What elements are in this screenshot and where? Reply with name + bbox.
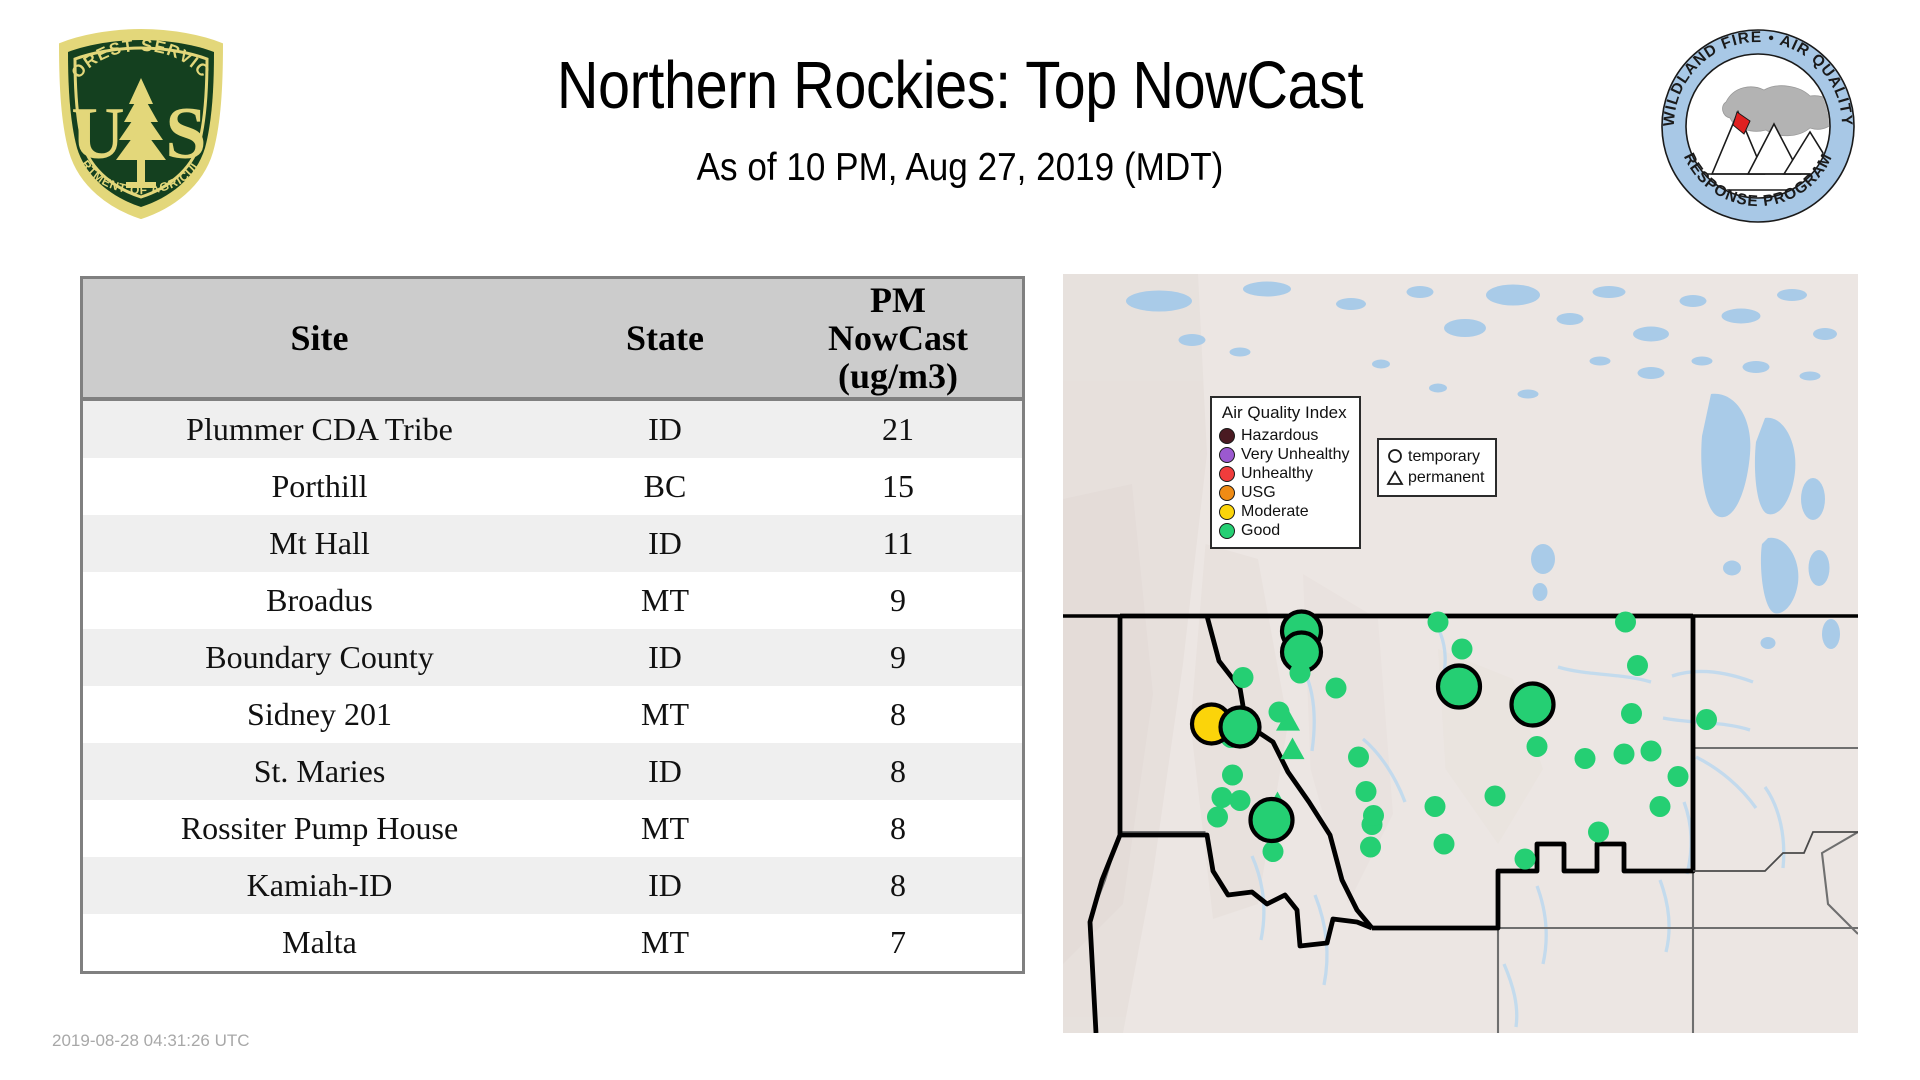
table-row: MaltaMT7 [82,914,1024,973]
state-cell: MT [556,914,774,973]
pm-nowcast-cell: 11 [774,515,1024,572]
pm-nowcast-cell: 9 [774,572,1024,629]
aqi-legend-label: Unhealthy [1241,466,1313,482]
aqi-legend-label: Very Unhealthy [1241,447,1350,463]
state-cell: ID [556,857,774,914]
table-row: Boundary CountyID9 [82,629,1024,686]
pm-nowcast-cell: 7 [774,914,1024,973]
legend-permanent-label: permanent [1408,470,1485,486]
monitor-marker-temporary[interactable] [1428,612,1449,633]
monitor-marker-temporary[interactable] [1263,841,1284,862]
table-row: Mt HallID11 [82,515,1024,572]
monitor-marker-temporary[interactable] [1363,805,1384,826]
aqi-legend-label: Moderate [1241,504,1309,520]
footer-timestamp: 2019-08-28 04:31:26 UTC [52,1031,250,1051]
monitor-marker-temporary[interactable] [1230,790,1251,811]
monitor-marker-temporary[interactable] [1212,787,1233,808]
column-header-state: State [556,278,774,400]
pm-header-line-3: (ug/m3) [838,356,958,396]
aqi-legend-label: Good [1241,523,1280,539]
monitor-marker-temporary[interactable] [1696,709,1717,730]
pm-nowcast-cell: 8 [774,686,1024,743]
pm-nowcast-cell: 8 [774,743,1024,800]
site-cell: Rossiter Pump House [82,800,557,857]
site-cell: Sidney 201 [82,686,557,743]
usfs-shield-logo: U S FOREST SERVICE DEPARTMENT OF AGRICUL… [46,26,236,222]
monitor-marker-temporary[interactable] [1650,796,1671,817]
aqi-legend-item: Moderate [1219,502,1350,521]
triangle-outline-icon [1386,469,1404,487]
site-cell: Kamiah-ID [82,857,557,914]
monitor-marker-temporary[interactable] [1615,612,1636,633]
table-row: Plummer CDA TribeID21 [82,399,1024,458]
table-header: Site State PM NowCast (ug/m3) [82,278,1024,400]
monitor-marker-temporary[interactable] [1588,822,1609,843]
pm-nowcast-cell: 9 [774,629,1024,686]
monitor-marker-temporary[interactable] [1515,849,1536,870]
top-nowcast-table-container: Site State PM NowCast (ug/m3) Plummer CD… [80,276,995,974]
air-quality-map[interactable]: Air Quality Index HazardousVery Unhealth… [1063,274,1858,1033]
aqi-legend-item: Hazardous [1219,426,1350,445]
monitor-marker-temporary[interactable] [1668,766,1689,787]
monitor-marker-temporary[interactable] [1527,736,1548,757]
table-row: Sidney 201MT8 [82,686,1024,743]
state-cell: MT [556,686,774,743]
pm-header-line-1: PM [870,280,926,320]
monitor-marker-temporary[interactable] [1356,781,1377,802]
state-cell: ID [556,743,774,800]
state-cell: ID [556,399,774,458]
top-nowcast-table: Site State PM NowCast (ug/m3) Plummer CD… [80,276,1025,974]
pm-header-line-2: NowCast [828,318,968,358]
table-row: BroadusMT9 [82,572,1024,629]
pm-nowcast-cell: 8 [774,800,1024,857]
monitor-marker-temporary[interactable] [1348,747,1369,768]
legend-temporary-label: temporary [1408,449,1480,465]
table-body: Plummer CDA TribeID21PorthillBC15Mt Hall… [82,399,1024,973]
monitor-marker-temporary[interactable] [1251,799,1293,841]
circle-outline-icon [1386,448,1404,466]
aqi-color-swatch-icon [1219,504,1235,520]
page-header: U S FOREST SERVICE DEPARTMENT OF AGRICUL… [0,0,1920,228]
legend-temporary-row: temporary [1386,446,1485,467]
monitor-marker-temporary[interactable] [1627,655,1648,676]
site-cell: St. Maries [82,743,557,800]
monitor-marker-temporary[interactable] [1485,786,1506,807]
table-row: St. MariesID8 [82,743,1024,800]
monitor-marker-temporary[interactable] [1269,702,1290,723]
site-cell: Mt Hall [82,515,557,572]
monitor-marker-temporary[interactable] [1621,703,1642,724]
site-cell: Malta [82,914,557,973]
aqi-legend-item: Very Unhealthy [1219,445,1350,464]
state-cell: MT [556,572,774,629]
site-type-legend: temporary permanent [1377,438,1497,497]
aqi-color-swatch-icon [1219,447,1235,463]
monitor-marker-temporary[interactable] [1425,796,1446,817]
table-header-row: Site State PM NowCast (ug/m3) [82,278,1024,400]
monitor-marker-temporary[interactable] [1512,684,1554,726]
svg-text:U: U [71,93,124,175]
monitor-marker-temporary[interactable] [1575,748,1596,769]
aqi-color-swatch-icon [1219,485,1235,501]
table-row: PorthillBC15 [82,458,1024,515]
state-cell: MT [556,800,774,857]
page-subtitle: As of 10 PM, Aug 27, 2019 (MDT) [330,148,1590,187]
site-cell: Boundary County [82,629,557,686]
aqi-legend-item: USG [1219,483,1350,502]
aqi-legend-label: Hazardous [1241,428,1318,444]
monitor-marker-temporary[interactable] [1221,708,1260,747]
legend-permanent-row: permanent [1386,467,1485,488]
pm-nowcast-cell: 21 [774,399,1024,458]
column-header-site: Site [82,278,557,400]
state-cell: ID [556,515,774,572]
monitor-marker-temporary[interactable] [1641,741,1662,762]
table-row: Rossiter Pump HouseMT8 [82,800,1024,857]
monitor-marker-temporary[interactable] [1438,666,1480,708]
aqi-legend-label: USG [1241,485,1276,501]
aqi-color-swatch-icon [1219,466,1235,482]
column-header-pm-nowcast: PM NowCast (ug/m3) [774,278,1024,400]
table-row: Kamiah-IDID8 [82,857,1024,914]
monitor-marker-temporary[interactable] [1233,667,1254,688]
aqi-legend: Air Quality Index HazardousVery Unhealth… [1210,396,1361,549]
monitor-marker-temporary[interactable] [1452,639,1473,660]
monitor-marker-temporary[interactable] [1434,834,1455,855]
wfaqrp-logo: WILDLAND FIRE • AIR QUALITY RESPONSE PRO… [1660,28,1856,224]
monitor-marker-temporary[interactable] [1290,663,1311,684]
monitor-marker-temporary[interactable] [1360,837,1381,858]
svg-text:S: S [165,93,206,175]
aqi-color-swatch-icon [1219,523,1235,539]
site-cell: Broadus [82,572,557,629]
monitor-marker-temporary[interactable] [1614,744,1635,765]
pm-nowcast-cell: 15 [774,458,1024,515]
monitor-marker-temporary[interactable] [1326,678,1347,699]
aqi-legend-item: Unhealthy [1219,464,1350,483]
monitor-marker-temporary[interactable] [1222,765,1243,786]
page-title: Northern Rockies: Top NowCast [358,52,1562,119]
monitor-marker-temporary[interactable] [1207,807,1228,828]
state-cell: BC [556,458,774,515]
site-cell: Porthill [82,458,557,515]
aqi-legend-title: Air Quality Index [1219,404,1350,421]
state-cell: ID [556,629,774,686]
site-cell: Plummer CDA Tribe [82,399,557,458]
pm-nowcast-cell: 8 [774,857,1024,914]
aqi-legend-item: Good [1219,521,1350,540]
aqi-color-swatch-icon [1219,428,1235,444]
